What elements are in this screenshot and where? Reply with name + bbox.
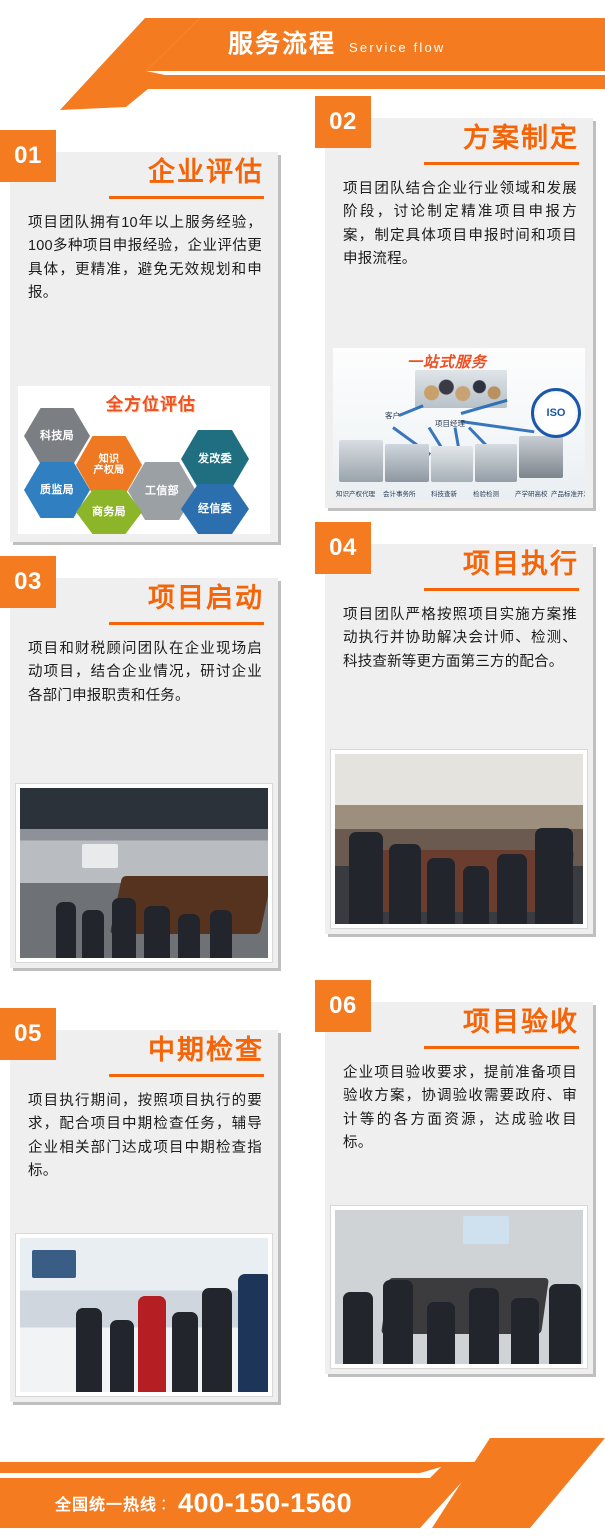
service-label-3: 科技查新 [431, 488, 457, 498]
service-thumb-3 [431, 446, 473, 482]
acceptance-meeting-photo [331, 1206, 587, 1368]
step-body-03: 项目和财税顾问团队在企业现场启动项目，结合企业情况，研讨企业各部门申报职责和任务… [28, 638, 262, 708]
title-underline-01 [109, 196, 264, 199]
photo-person-6 [535, 828, 573, 924]
photo-person-4 [144, 906, 170, 958]
photo-person-3 [172, 1312, 198, 1392]
iso-seal-icon: ISO [531, 388, 581, 438]
step-title-04: 项目执行 [463, 550, 579, 580]
one-stop-title: 一站式服务 [407, 351, 487, 372]
step-badge-05: 05 [0, 1008, 56, 1060]
title-underline-04 [424, 588, 579, 591]
one-stop-service-diagram: 一站式服务 客户 项目经理 ISO 知识产权代理 会计事务所 [333, 348, 585, 500]
step-card-04[interactable]: 04 项目执行 项目团队严格按照项目实施方案推动执行并协助解决会计师、检测、科技… [325, 544, 593, 934]
page-footer: 全国统一热线 ： 400-150-1560 [0, 1426, 605, 1538]
step-badge-02: 02 [315, 96, 371, 148]
service-thumb-4 [475, 444, 517, 482]
step-title-06: 项目验收 [463, 1008, 579, 1038]
step-title-01: 企业评估 [148, 158, 264, 188]
hex-node-fagai: 发改委 [181, 430, 249, 488]
step-card-01[interactable]: 01 企业评估 项目团队拥有10年以上服务经验，100多种项目申报经验，企业评估… [10, 152, 278, 542]
photo-person-5 [178, 914, 200, 958]
service-thumb-5 [519, 436, 563, 478]
step-body-01: 项目团队拥有10年以上服务经验，100多种项目申报经验，企业评估更具体，更精准，… [28, 212, 262, 306]
title-underline-05 [109, 1074, 264, 1077]
photo-person-4 [463, 866, 489, 924]
service-label-1: 知识产权代理 [336, 488, 375, 498]
service-label-4: 检验检测 [473, 488, 499, 498]
title-underline-06 [424, 1046, 579, 1049]
step-body-02: 项目团队结合企业行业领域和发展阶段，讨论制定精准项目申报方案，制定具体项目申报时… [343, 178, 577, 272]
header-title-en: Service flow [349, 40, 445, 55]
photo-person-1 [343, 1292, 373, 1364]
conference-table-photo [331, 750, 587, 928]
photo-person-5 [511, 1298, 539, 1364]
photo-person-3 [427, 858, 455, 924]
header-title-row: 服务流程 Service flow [0, 18, 605, 71]
site-tour-photo [16, 1234, 272, 1396]
photo-person-5 [238, 1274, 272, 1392]
photo-person-3 [112, 898, 136, 958]
photo-person-2 [82, 910, 104, 958]
footer-hotline-row: 全国统一热线 ： 400-150-1560 [0, 1478, 440, 1528]
photo-person-2 [389, 844, 421, 924]
step-card-05[interactable]: 05 中期检查 项目执行期间，按照项目执行的要求，配合项目中期检查任务，辅导企业… [10, 1030, 278, 1402]
photo-person-6 [210, 910, 232, 958]
photo-person-4 [469, 1288, 499, 1364]
step-body-05: 项目执行期间，按照项目执行的要求，配合项目中期检查任务，辅导企业相关部门达成项目… [28, 1090, 262, 1184]
meeting-room-photo [16, 784, 272, 962]
step-card-03[interactable]: 03 项目启动 项目和财税顾问团队在企业现场启动项目，结合企业情况，研讨企业各部… [10, 578, 278, 968]
hex-node-keji: 科技局 [24, 408, 90, 464]
step-title-05: 中期检查 [148, 1036, 264, 1066]
service-label-5: 产学研高校 [515, 488, 548, 498]
service-label-2: 会计事务所 [383, 488, 416, 498]
step-body-04: 项目团队严格按照项目实施方案推动执行并协助解决会计师、检测、科技查新等更方面第三… [343, 604, 577, 674]
photo-person-2 [383, 1280, 413, 1364]
hotline-colon: ： [160, 1493, 175, 1514]
step-badge-01: 01 [0, 130, 56, 182]
photo-person-red-coat [138, 1296, 166, 1392]
photo-person-3 [427, 1302, 455, 1364]
photo-person-5 [497, 854, 527, 924]
step-title-03: 项目启动 [148, 584, 264, 614]
title-underline-02 [424, 162, 579, 165]
infographic-page: 服务流程 Service flow 01 企业评估 项目团队拥有10年以上服务经… [0, 0, 605, 1538]
service-thumb-2 [385, 444, 429, 482]
step-title-02: 方案制定 [463, 124, 579, 154]
photo-person-6 [549, 1284, 581, 1364]
photo-display-screen [32, 1250, 76, 1278]
header-title-cn: 服务流程 [228, 32, 336, 57]
step-badge-03: 03 [0, 556, 56, 608]
one-stop-node-khach: 客户 [385, 410, 400, 421]
step-card-06[interactable]: 06 项目验收 企业项目验收要求，提前准备项目验收方案，协调验收需要政府、审计等… [325, 1002, 593, 1374]
service-thumb-1 [339, 440, 383, 482]
step-badge-04: 04 [315, 522, 371, 574]
hex-diagram-title: 全方位评估 [106, 390, 196, 415]
page-header: 服务流程 Service flow [0, 0, 605, 110]
photo-projector-screen [463, 1216, 509, 1244]
photo-person-4 [202, 1288, 232, 1392]
step-badge-06: 06 [315, 980, 371, 1032]
photo-person-1 [349, 832, 383, 924]
flow-arrow-1 [398, 404, 423, 417]
photo-person-1 [56, 902, 76, 958]
one-stop-node-manager: 项目经理 [435, 418, 465, 429]
hotline-phone-number: 400-150-1560 [178, 1488, 352, 1519]
hex-assessment-diagram: 全方位评估 科技局 知识 产权局 质监局 工信部 商务局 发改委 经信委 [18, 386, 270, 534]
hotline-label: 全国统一热线 [55, 1491, 157, 1515]
photo-whiteboard [82, 844, 118, 868]
step-card-02[interactable]: 02 方案制定 项目团队结合企业行业领域和发展阶段，讨论制定精准项目申报方案，制… [325, 118, 593, 508]
photo-person-1 [76, 1308, 102, 1392]
title-underline-03 [109, 622, 264, 625]
step-body-06: 企业项目验收要求，提前准备项目验收方案，协调验收需要政府、审计等的各方面资源，达… [343, 1062, 577, 1156]
service-label-6: 产品标准开发 [551, 488, 585, 498]
photo-person-2 [110, 1320, 134, 1392]
